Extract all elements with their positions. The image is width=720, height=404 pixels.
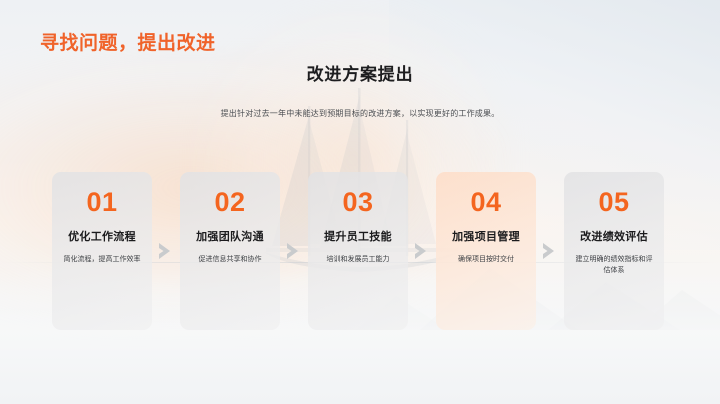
page-title: 改进方案提出: [0, 60, 720, 85]
step-number: 02: [214, 189, 245, 216]
step-card-05[interactable]: 05 改进绩效评估 建立明确的绩效指标和评估体系: [564, 172, 664, 330]
step-card-02[interactable]: 02 加强团队沟通 促进信息共享和协作: [180, 172, 280, 330]
step-title: 改进绩效评估: [580, 228, 648, 244]
chevron-right-icon: [280, 172, 308, 330]
step-description: 确保项目按时交付: [447, 255, 525, 266]
step-card-01[interactable]: 01 优化工作流程 简化流程，提高工作效率: [52, 172, 152, 330]
step-number: 01: [86, 189, 117, 216]
step-card-03[interactable]: 03 提升员工技能 培训和发展员工能力: [308, 172, 408, 330]
step-number: 04: [470, 189, 501, 216]
chevron-right-icon: [536, 172, 564, 330]
step-description: 简化流程，提高工作效率: [63, 255, 141, 266]
step-title: 提升员工技能: [324, 228, 392, 244]
step-title: 加强团队沟通: [196, 228, 264, 244]
step-title: 优化工作流程: [68, 228, 136, 244]
page-subtitle: 提出针对过去一年中未能达到预期目标的改进方案，以实现更好的工作成果。: [0, 108, 720, 119]
step-number: 05: [598, 189, 629, 216]
step-card-04[interactable]: 04 加强项目管理 确保项目按时交付: [436, 172, 536, 330]
chevron-right-icon: [152, 172, 180, 330]
step-number: 03: [342, 189, 373, 216]
chevron-right-icon: [408, 172, 436, 330]
step-title: 加强项目管理: [452, 228, 520, 244]
slide-content: 寻找问题，提出改进 改进方案提出 提出针对过去一年中未能达到预期目标的改进方案，…: [0, 0, 720, 404]
slide-kicker: 寻找问题，提出改进: [40, 28, 216, 55]
step-description: 建立明确的绩效指标和评估体系: [575, 255, 653, 277]
step-description: 培训和发展员工能力: [319, 255, 397, 266]
step-description: 促进信息共享和协作: [191, 255, 269, 266]
slide-canvas: 寻找问题，提出改进 改进方案提出 提出针对过去一年中未能达到预期目标的改进方案，…: [0, 0, 720, 404]
steps-row: 01 优化工作流程 简化流程，提高工作效率 02 加强团队沟通 促进信息共享和协…: [52, 172, 668, 330]
